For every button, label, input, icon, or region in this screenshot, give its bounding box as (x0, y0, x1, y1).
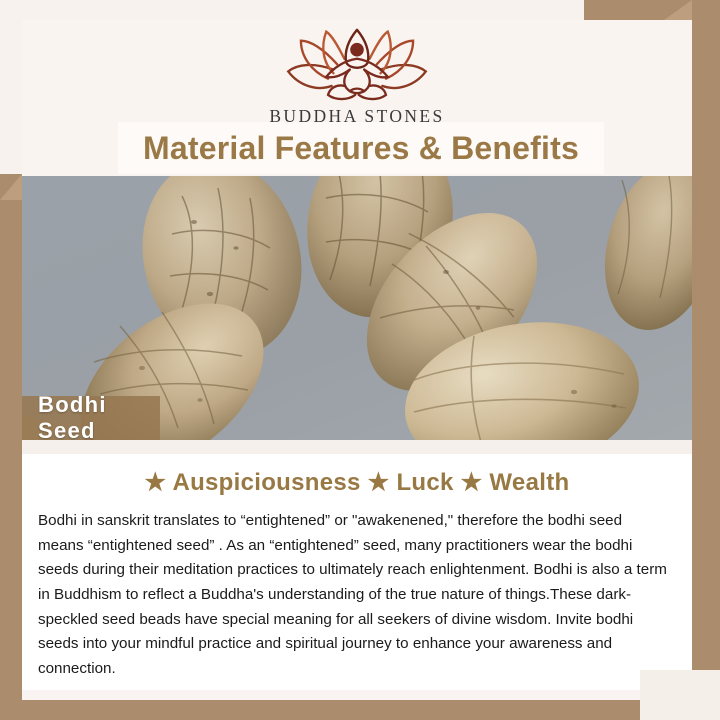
seed-name-label: Bodhi Seed (38, 392, 160, 440)
infographic-page: BUDDHA STONES Material Features & Benefi… (0, 0, 720, 720)
benefits-headline: ★ Auspiciousness ★ Luck ★ Wealth (22, 468, 692, 497)
description-text: Bodhi in sanskrit translates to “entight… (38, 509, 670, 681)
frame-corner-bottom-left (0, 690, 22, 720)
corner-cream-block (640, 670, 720, 720)
frame-right-bar (692, 0, 720, 700)
page-title: Material Features & Benefits (143, 130, 579, 167)
frame-left-bar (0, 174, 22, 720)
section-divider (22, 440, 692, 454)
description-section: ★ Auspiciousness ★ Luck ★ Wealth Bodhi i… (22, 440, 692, 690)
bodhi-seed-photo: Bodhi Seed (22, 176, 692, 440)
frame-top-bar (584, 0, 720, 20)
lotus-meditation-icon (262, 28, 452, 104)
seed-name-badge: Bodhi Seed (22, 396, 160, 440)
title-band: Material Features & Benefits (118, 122, 604, 174)
